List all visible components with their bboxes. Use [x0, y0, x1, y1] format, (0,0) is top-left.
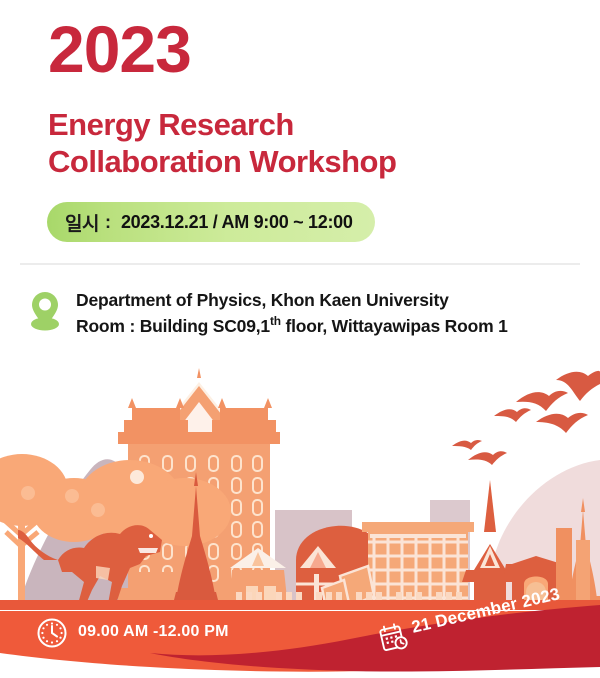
clock-icon — [36, 617, 68, 649]
date-badge-label: 일시 — [65, 209, 99, 236]
birds-flock — [452, 371, 600, 465]
location-room-ordinal: th — [270, 314, 281, 328]
map-pin-icon — [28, 289, 62, 331]
page-title-year: 2023 — [48, 16, 191, 82]
location-text: Department of Physics, Khon Kaen Univers… — [76, 288, 508, 340]
section-divider — [20, 263, 580, 265]
location-line-2: Room : Building SC09,1th floor, Wittayaw… — [76, 313, 508, 339]
page-title: Energy Research Collaboration Workshop — [48, 107, 396, 180]
date-badge-value: 2023.12.21 / AM 9:00 ~ 12:00 — [121, 212, 353, 233]
date-badge-colon: : — [105, 212, 111, 233]
banner-time-text: 09.00 AM -12.00 PM — [78, 623, 229, 641]
title-line-2: Collaboration Workshop — [48, 144, 396, 181]
date-badge: 일시 : 2023.12.21 / AM 9:00 ~ 12:00 — [47, 202, 375, 242]
poster-canvas: 2023 Energy Research Collaboration Works… — [0, 0, 600, 678]
khon-kaen-skyline-illustration — [0, 360, 600, 610]
location-line-1: Department of Physics, Khon Kaen Univers… — [76, 288, 508, 313]
location-room-suffix: floor, Wittayawipas Room 1 — [281, 316, 508, 336]
location-room-prefix: Room : Building SC09,1 — [76, 316, 270, 336]
bottom-banner — [0, 605, 600, 678]
title-line-1: Energy Research — [48, 107, 396, 144]
